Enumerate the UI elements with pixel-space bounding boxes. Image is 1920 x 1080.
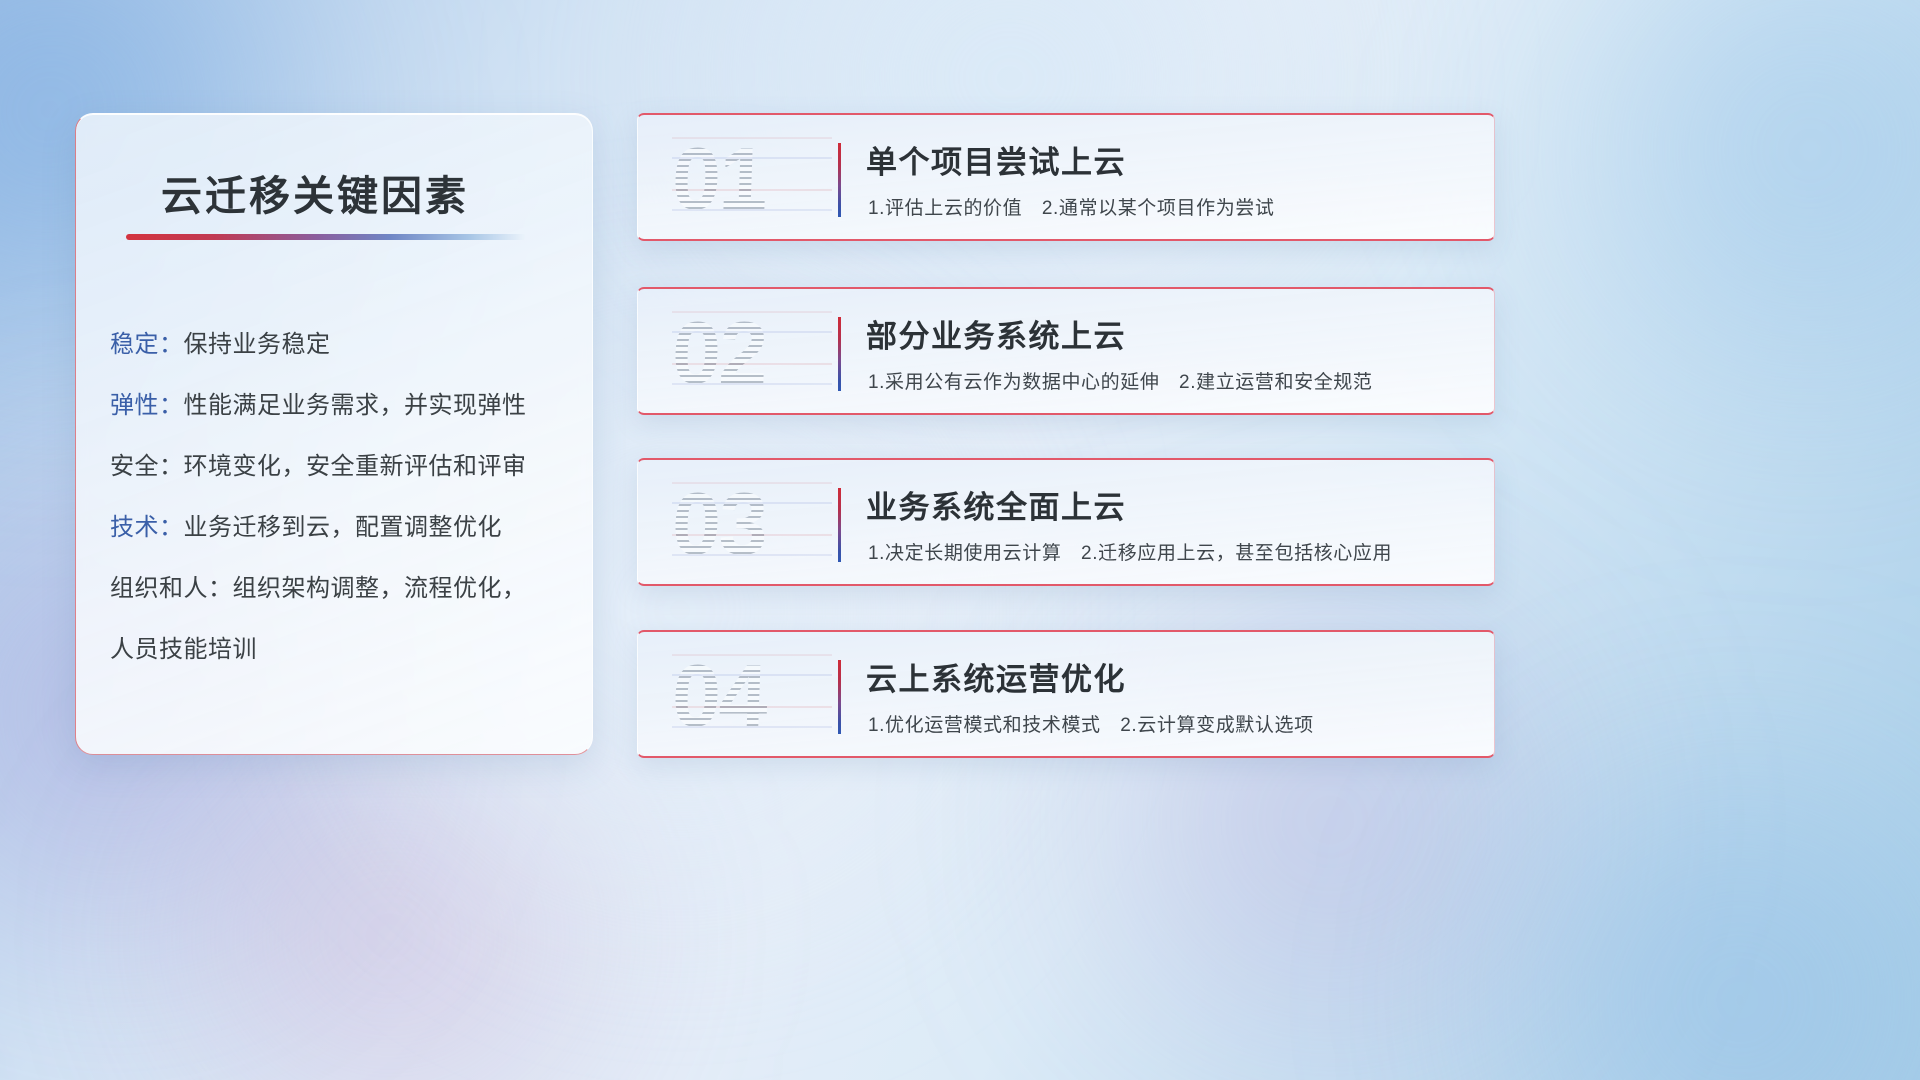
- step-title: 云上系统运营优化: [866, 654, 1126, 699]
- page-title: 云迁移关键因素: [161, 162, 469, 222]
- step-title: 业务系统全面上云: [866, 482, 1126, 527]
- step-card[interactable]: 01 单个项目尝试上云 1.评估上云的价值 2.通常以某个项目作为尝试: [637, 113, 1495, 241]
- step-subtitle: 1.采用公有云作为数据中心的延伸 2.建立运营和安全规范: [868, 367, 1373, 394]
- factor-text: 组织架构调整，流程优化，: [233, 575, 527, 602]
- slide-stage: 云迁移关键因素 稳定：保持业务稳定 弹性：性能满足业务需求，并实现弹性 安全：环…: [0, 0, 1920, 1080]
- list-item: 组织和人：组织架构调整，流程优化，: [110, 558, 568, 619]
- step-subtitle: 1.评估上云的价值 2.通常以某个项目作为尝试: [868, 193, 1275, 220]
- list-item: 稳定：保持业务稳定: [110, 314, 568, 375]
- step-divider: [838, 488, 841, 562]
- step-number: 04: [670, 640, 834, 752]
- list-item-continuation: 人员技能培训: [110, 619, 568, 680]
- factor-key: 技术：: [110, 514, 184, 541]
- factor-key: 安全：: [110, 453, 184, 480]
- factor-key: 组织和人：: [110, 575, 233, 602]
- factor-text: 环境变化，安全重新评估和评审: [184, 453, 527, 480]
- factor-text: 性能满足业务需求，并实现弹性: [184, 392, 527, 419]
- step-divider: [838, 317, 841, 391]
- key-factors-panel: 云迁移关键因素 稳定：保持业务稳定 弹性：性能满足业务需求，并实现弹性 安全：环…: [75, 113, 593, 755]
- step-card[interactable]: 04 云上系统运营优化 1.优化运营模式和技术模式 2.云计算变成默认选项: [637, 630, 1495, 758]
- list-item: 弹性：性能满足业务需求，并实现弹性: [110, 375, 568, 436]
- step-divider: [838, 660, 841, 734]
- factor-text: 业务迁移到云，配置调整优化: [184, 514, 503, 541]
- factor-text: 保持业务稳定: [184, 331, 331, 358]
- step-card[interactable]: 02 部分业务系统上云 1.采用公有云作为数据中心的延伸 2.建立运营和安全规范: [637, 287, 1495, 415]
- step-title: 单个项目尝试上云: [866, 137, 1126, 182]
- factor-key: 稳定：: [110, 331, 184, 358]
- step-subtitle: 1.决定长期使用云计算 2.迁移应用上云，甚至包括核心应用: [868, 538, 1392, 565]
- step-number: 01: [670, 123, 834, 235]
- step-divider: [838, 143, 841, 217]
- title-underline: [126, 234, 526, 240]
- list-item: 技术：业务迁移到云，配置调整优化: [110, 497, 568, 558]
- step-number: 03: [670, 468, 834, 580]
- step-subtitle: 1.优化运营模式和技术模式 2.云计算变成默认选项: [868, 710, 1314, 737]
- factor-key: 弹性：: [110, 392, 184, 419]
- step-title: 部分业务系统上云: [866, 311, 1126, 356]
- step-number: 02: [670, 297, 834, 409]
- list-item: 安全：环境变化，安全重新评估和评审: [110, 436, 568, 497]
- factor-list: 稳定：保持业务稳定 弹性：性能满足业务需求，并实现弹性 安全：环境变化，安全重新…: [110, 314, 568, 680]
- step-card[interactable]: 03 业务系统全面上云 1.决定长期使用云计算 2.迁移应用上云，甚至包括核心应…: [637, 458, 1495, 586]
